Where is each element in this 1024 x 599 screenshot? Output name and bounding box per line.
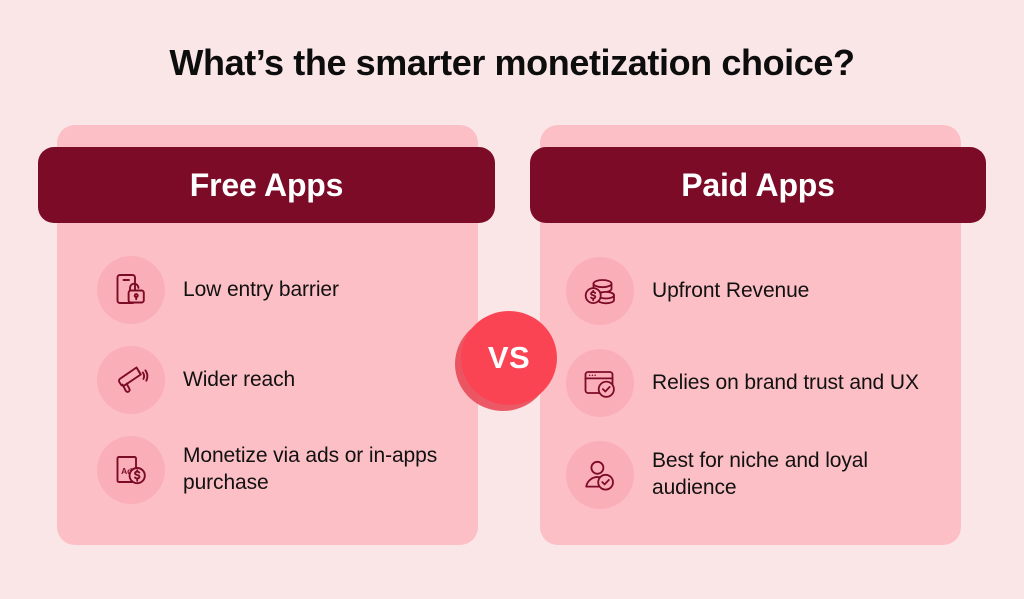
feature-list-paid-apps: Upfront Revenue Relies on brand trust an… xyxy=(540,245,961,521)
header-free-apps: Free Apps xyxy=(38,147,495,223)
list-item: Relies on brand trust and UX xyxy=(566,337,947,429)
vs-badge: VS xyxy=(455,311,561,411)
feature-list-free-apps: Low entry barrier Wider reach xyxy=(57,245,478,515)
vs-badge-label: VS xyxy=(488,340,530,376)
vs-badge-circle: VS xyxy=(461,311,557,405)
coin-stack-icon xyxy=(566,257,634,325)
header-label-paid-apps: Paid Apps xyxy=(681,167,834,204)
list-item: Best for niche and loyal audience xyxy=(566,429,947,521)
megaphone-icon xyxy=(97,346,165,414)
list-item-label: Low entry barrier xyxy=(183,277,339,304)
column-free-apps: Free Apps Low entry barrier xyxy=(57,125,478,545)
list-item: Low entry barrier xyxy=(97,245,464,335)
list-item-label: Wider reach xyxy=(183,367,295,394)
user-check-icon xyxy=(566,441,634,509)
browser-check-icon xyxy=(566,349,634,417)
list-item-label: Best for niche and loyal audience xyxy=(652,448,947,502)
list-item: Wider reach xyxy=(97,335,464,425)
list-item-label: Monetize via ads or in-apps purchase xyxy=(183,443,464,497)
ad-coin-icon: Ad xyxy=(97,436,165,504)
list-item-label: Relies on brand trust and UX xyxy=(652,370,919,397)
header-paid-apps: Paid Apps xyxy=(530,147,986,223)
column-paid-apps: Paid Apps Upfront Revenue xyxy=(540,125,961,545)
list-item: Upfront Revenue xyxy=(566,245,947,337)
list-item-label: Upfront Revenue xyxy=(652,278,809,305)
phone-unlock-icon xyxy=(97,256,165,324)
page-title: What’s the smarter monetization choice? xyxy=(0,42,1024,84)
list-item: Ad Monetize via ads or in-apps purchase xyxy=(97,425,464,515)
header-label-free-apps: Free Apps xyxy=(190,167,344,204)
